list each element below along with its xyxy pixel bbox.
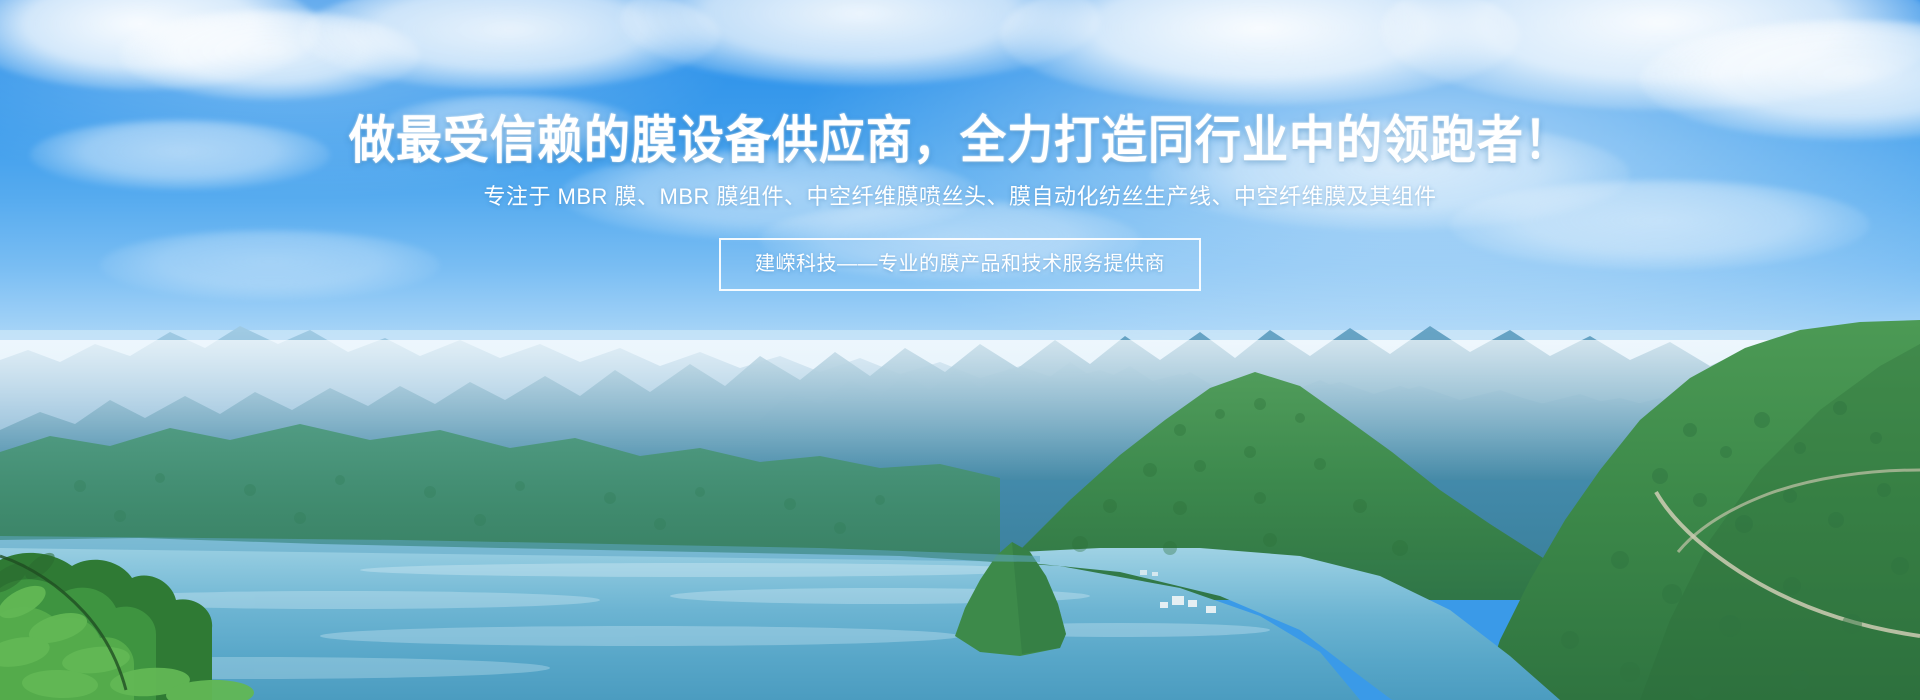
- hero-text-block: 做最受信赖的膜设备供应商，全力打造同行业中的领跑者！ 专注于 MBR 膜、MBR…: [0, 0, 1920, 291]
- page-title: 做最受信赖的膜设备供应商，全力打造同行业中的领跑者！: [0, 0, 1920, 170]
- tagline-badge: 建嵘科技——专业的膜产品和技术服务提供商: [719, 238, 1201, 291]
- hero-banner: 做最受信赖的膜设备供应商，全力打造同行业中的领跑者！ 专注于 MBR 膜、MBR…: [0, 0, 1920, 700]
- tagline-container: 建嵘科技——专业的膜产品和技术服务提供商: [0, 212, 1920, 291]
